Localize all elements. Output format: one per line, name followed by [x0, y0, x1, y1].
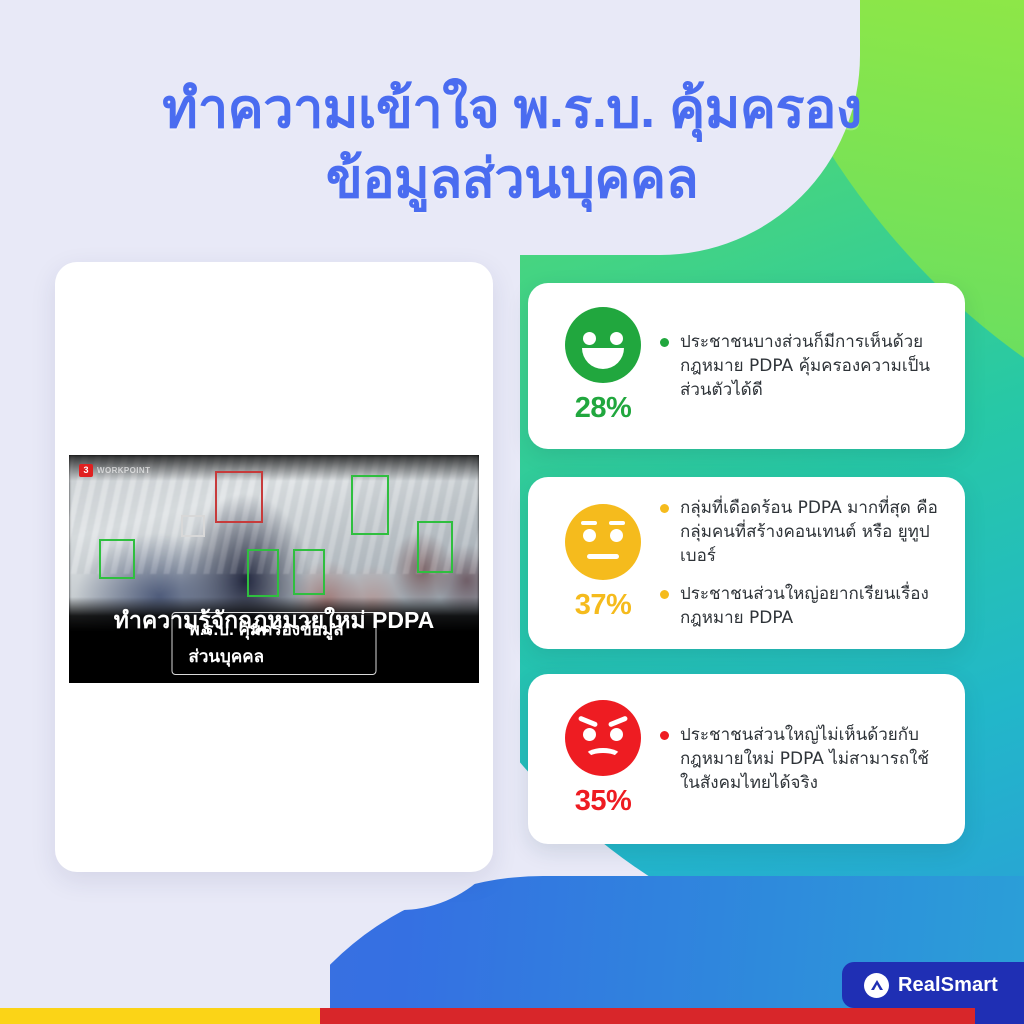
stat-card-negative: 35% ประชาชนส่วนใหญ่ไม่เห็นด้วยกับกฎหมายใ…	[528, 674, 965, 844]
bullet-dot-icon	[660, 504, 669, 513]
realsmart-triangle-icon	[864, 973, 889, 998]
page-title: ทำความเข้าใจ พ.ร.บ. คุ้มครอง ข้อมูลส่วนบ…	[0, 74, 1024, 214]
infographic-canvas: ทำความเข้าใจ พ.ร.บ. คุ้มครอง ข้อมูลส่วนบ…	[0, 0, 1024, 1024]
face-brow-right	[609, 521, 625, 525]
stat-bullet-list: ประชาชนส่วนใหญ่ไม่เห็นด้วยกับกฎหมายใหม่ …	[656, 723, 945, 795]
bottom-color-strip	[0, 1008, 1024, 1024]
list-item: ประชาชนบางส่วนก็มีการเห็นด้วย กฎหมาย PDP…	[660, 330, 945, 402]
face-eye-left	[583, 332, 596, 345]
bullet-text: กลุ่มที่เดือดร้อน PDPA มากที่สุด คือกลุ่…	[680, 496, 945, 568]
face-eye-right	[610, 529, 623, 542]
face-eye-right	[610, 332, 623, 345]
stat-bullet-list: กลุ่มที่เดือดร้อน PDPA มากที่สุด คือกลุ่…	[656, 496, 945, 630]
brand-logo-badge[interactable]: RealSmart	[842, 962, 1024, 1008]
video-card: 3 WORKPOINT ทำความรู้จักกฎหมายใหม่ PDPA …	[55, 262, 493, 872]
face-brow-right	[608, 715, 628, 727]
stat-percent-negative: 35%	[575, 785, 632, 818]
video-thumbnail[interactable]: 3 WORKPOINT ทำความรู้จักกฎหมายใหม่ PDPA …	[69, 455, 479, 683]
face-box-white	[181, 515, 205, 537]
list-item: ประชาชนส่วนใหญ่อยากเรียนเรื่องกฎหมาย PDP…	[660, 582, 945, 630]
bullet-text: ประชาชนส่วนใหญ่อยากเรียนเรื่องกฎหมาย PDP…	[680, 582, 945, 630]
strip-segment-yellow	[0, 1008, 320, 1024]
face-mouth-frown	[584, 748, 622, 767]
face-mouth-flat	[587, 554, 619, 559]
face-box-green-1	[99, 539, 135, 579]
face-eye-left	[583, 728, 596, 741]
angry-face-icon	[565, 700, 641, 776]
bullet-text: ประชาชนบางส่วนก็มีการเห็นด้วย กฎหมาย PDP…	[680, 330, 945, 402]
stat-face-column: 28%	[550, 307, 656, 425]
stat-bullet-list: ประชาชนบางส่วนก็มีการเห็นด้วย กฎหมาย PDP…	[656, 330, 945, 402]
page-title-line-1: ทำความเข้าใจ พ.ร.บ. คุ้มครอง	[0, 74, 1024, 144]
stat-card-positive: 28% ประชาชนบางส่วนก็มีการเห็นด้วย กฎหมาย…	[528, 283, 965, 449]
face-mouth-smile	[582, 348, 624, 369]
face-box-green-4	[351, 475, 389, 535]
stat-percent-positive: 28%	[575, 392, 632, 425]
channel-logo: 3 WORKPOINT	[79, 464, 150, 477]
face-eye-left	[583, 529, 596, 542]
face-box-green-5	[417, 521, 453, 573]
list-item: ประชาชนส่วนใหญ่ไม่เห็นด้วยกับกฎหมายใหม่ …	[660, 723, 945, 795]
stat-card-neutral: 37% กลุ่มที่เดือดร้อน PDPA มากที่สุด คือ…	[528, 477, 965, 649]
bullet-dot-icon	[660, 338, 669, 347]
stat-percent-neutral: 37%	[575, 589, 632, 622]
video-caption-subtitle-box: พ.ร.บ. คุ้มครองข้อมูลส่วนบุคคล	[172, 612, 377, 675]
channel-logo-name: WORKPOINT	[97, 466, 150, 475]
face-eye-right	[610, 728, 623, 741]
face-box-red-primary	[215, 471, 263, 523]
face-brow-left	[578, 715, 598, 727]
strip-segment-blue	[975, 1008, 1024, 1024]
strip-segment-red	[320, 1008, 975, 1024]
stat-face-column: 35%	[550, 700, 656, 818]
bullet-text: ประชาชนส่วนใหญ่ไม่เห็นด้วยกับกฎหมายใหม่ …	[680, 723, 945, 795]
face-brow-left	[581, 521, 597, 525]
smiley-face-icon	[565, 307, 641, 383]
brand-name: RealSmart	[898, 974, 998, 997]
bullet-dot-icon	[660, 590, 669, 599]
bullet-dot-icon	[660, 731, 669, 740]
list-item: กลุ่มที่เดือดร้อน PDPA มากที่สุด คือกลุ่…	[660, 496, 945, 568]
face-box-green-2	[247, 549, 279, 597]
stat-face-column: 37%	[550, 504, 656, 622]
face-box-green-3	[293, 549, 325, 595]
channel-logo-badge: 3	[79, 464, 93, 477]
page-title-line-2: ข้อมูลส่วนบุคคล	[0, 144, 1024, 214]
video-caption-subtitle: พ.ร.บ. คุ้มครองข้อมูลส่วนบุคคล	[189, 616, 360, 670]
neutral-face-icon	[565, 504, 641, 580]
